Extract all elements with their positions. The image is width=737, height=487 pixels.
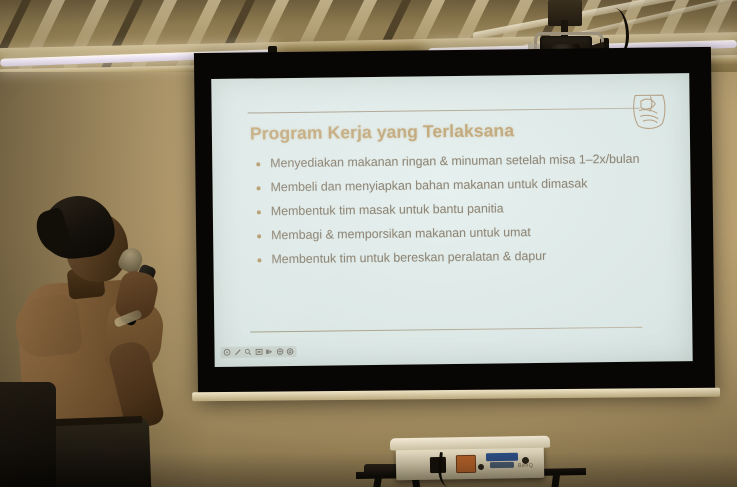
presentation-options-icon[interactable] [224,349,231,356]
list-item: Membentuk tim untuk bereskan peralatan &… [253,247,671,268]
pen-icon[interactable] [234,349,241,356]
list-item: Membeli dan menyiapkan bahan makanan unt… [252,175,670,196]
list-item: Membentuk tim masak untuk bantu panitia [253,199,671,220]
floor-shadow [0,452,737,487]
list-item: Membagi & memporsikan makanan untuk umat [253,223,671,244]
slide-toolbar[interactable] [221,346,297,358]
next-slide-icon[interactable] [266,348,273,355]
slide-bullet-list: Menyediakan makanan ringan & minuman set… [252,151,671,276]
slide-surface: Program Kerja yang Terlaksana Menyediaka… [211,73,692,367]
slide-title: Program Kerja yang Terlaksana [250,119,650,145]
slide-divider-bottom [250,327,642,333]
more-options-icon[interactable] [287,348,294,355]
list-item: Menyediakan makanan ringan & minuman set… [252,151,670,172]
presentation-room-photo: Program Kerja yang Terlaksana Menyediaka… [0,0,737,487]
magnifier-icon[interactable] [245,348,252,355]
organization-emblem-icon [629,87,668,131]
slide-divider-top [248,108,640,114]
menu-icon[interactable] [276,348,283,355]
slide-thumbnail-icon[interactable] [255,348,262,355]
projection-screen: Program Kerja yang Terlaksana Menyediaka… [194,47,715,398]
